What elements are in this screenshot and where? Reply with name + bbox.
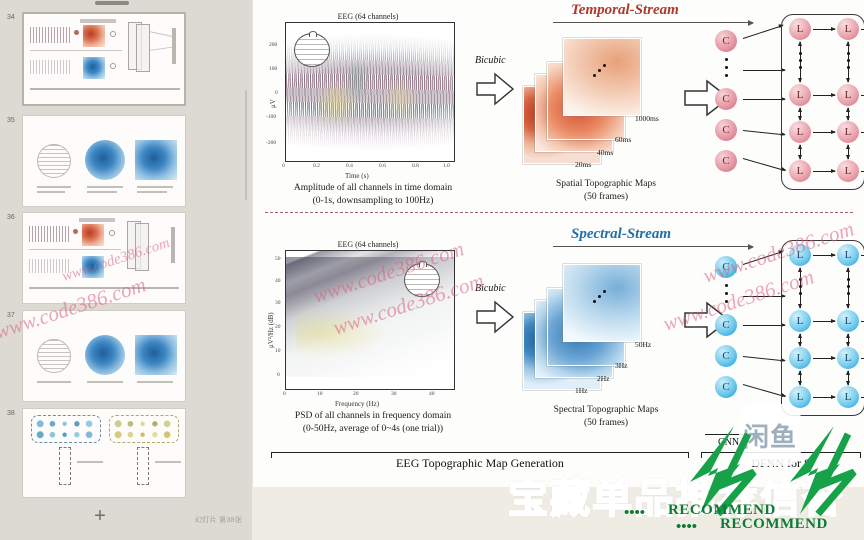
lstm-v-arrow [800,42,801,82]
psd-xtick-0: 0 [283,391,286,397]
spectral-stream-arrow [553,246,753,247]
eeg-ytick-4: -200 [266,140,276,146]
mini-column-b [137,447,149,485]
lstm-node-r3c1: L [789,347,811,369]
mini-warm-map [82,224,104,246]
mini-title-bar [80,19,116,23]
mini-baseline [29,287,179,289]
mini-caption [137,191,167,193]
frame-label-40ms: 40ms [597,148,613,157]
left-section-brace [271,452,689,453]
frame-label-3hz: 3Hz [615,361,628,370]
spectral-stream-title: Spectral-Stream [571,226,671,243]
eeg-caption-line2: (0-1s, downsampling to 100Hz) [259,195,487,208]
mini-caption [37,191,65,193]
lstm-h-arrow [813,29,835,30]
psd-plot [285,250,455,390]
mini-divider [30,50,122,51]
lstm-v-arrow [848,268,849,308]
bicubic-label-spectral: Bicubic [475,283,506,294]
mini-column-a [59,447,71,485]
eeg-xtick-0: 0 [282,163,285,169]
lstm-v-arrow [800,145,801,159]
cnn-to-lstm-arrow [743,25,783,39]
stream-divider [265,212,853,213]
lstm-node-r1c2: L [837,244,859,266]
lstm-v-arrow [800,334,801,346]
spatial-maps-caption-line2: (50 frames) [511,191,701,204]
mini-node-grid-blue [31,415,101,443]
lstm-node-r1c1: L [789,244,811,266]
eeg-plot-title: EEG (64 channels) [273,12,463,21]
bicubic-arrow-spectral [475,300,515,334]
frame-label-60ms: 60ms [615,135,631,144]
recommend-dots: •••• [624,505,645,522]
eeg-xtick-5: 1.0 [443,163,450,169]
mini-caption [87,381,123,383]
cnn-node-2: C [715,314,737,336]
mini-node-icon [110,31,116,37]
lstm-h-arrow [813,132,835,133]
mini-caption [37,381,71,383]
lstm-node-r3c1: L [789,121,811,143]
spatial-maps-caption-line1: Spatial Topographic Maps [511,178,701,191]
mini-cool-disc [85,140,125,180]
spatial-topomap-stack: 20ms 40ms 60ms 1000ms [523,22,693,177]
psd-ytick-2: 30 [275,300,281,306]
eeg-y-axis-label: μV [269,99,277,108]
frame-label-2hz: 2Hz [597,374,610,383]
recommend-label: RECOMMEND [720,516,828,533]
mini-dot-icon [74,30,79,35]
sidebar-footnote: 幻灯片 第38张 [195,515,242,525]
psd-xtick-2: 20 [353,391,359,397]
cnn-to-lstm-arrow [743,251,783,265]
frame-label-50hz: 50Hz [635,340,651,349]
lstm-v-arrow [848,371,849,385]
eeg-xtick-4: 0.8 [412,163,419,169]
lstm-h-arrow [813,358,835,359]
list-item[interactable]: 38 [0,408,248,504]
application-window: 34 35 [0,0,864,540]
mini-caption [137,186,173,188]
mini-caption [155,461,181,463]
mini-caption [137,381,173,383]
lstm-node-r2c1: L [789,84,811,106]
psd-ytick-1: 40 [275,278,281,284]
head-topography-icon [404,263,440,297]
mini-warm-map [83,25,105,47]
cnn-node-3: C [715,119,737,141]
add-slide-button[interactable]: + [88,505,112,529]
thumbnail-number: 37 [7,312,15,319]
mini-node-icon [109,230,115,236]
spectral-maps-caption-line1: Spectral Topographic Maps [511,404,701,417]
mini-head-grid [37,339,71,373]
psd-ytick-3: 20 [275,324,281,330]
eeg-ytick-1: 100 [269,66,277,72]
lstm-h-arrow [813,95,835,96]
thumbnail-number: 35 [7,117,15,124]
list-item[interactable]: 37 [0,310,248,406]
lstm-h-arrow [813,321,835,322]
mini-eeg-wave [30,27,70,43]
thumbnail-slide-38[interactable] [22,408,186,498]
cnn-node-1: C [715,256,737,278]
cnn-node-4: C [715,150,737,172]
mini-cool-map [82,256,104,278]
mini-title-bar [79,218,115,222]
eeg-xtick-1: 0.2 [313,163,320,169]
recommend-dots: •••• [676,519,697,536]
mini-caption [87,186,123,188]
mini-cool-square [135,140,177,180]
mini-eeg-wave [29,226,69,242]
eeg-caption-line1: Amplitude of all channels in time domain [259,182,487,195]
thumbnail-number: 36 [7,214,15,221]
mini-divider [29,249,121,250]
cnn-to-lstm-arrow [743,70,785,71]
eeg-xtick-2: 0.4 [346,163,353,169]
list-item[interactable]: 34 [0,12,248,108]
green-swoosh-icon [778,424,862,516]
cnn-to-lstm-arrow [743,296,785,297]
thumbnail-slide-37[interactable] [22,310,186,402]
mini-caption [77,461,103,463]
psd-xtick-4: 40 [429,391,435,397]
mini-psd-wave [29,259,69,273]
lstm-node-r2c1: L [789,310,811,332]
frame-label-1000ms: 1000ms [635,114,659,123]
psd-ytick-4: 10 [275,348,281,354]
psd-ytick-5: 0 [277,372,280,378]
lstm-h-arrow [813,255,835,256]
psd-ytick-0: 50 [275,256,281,262]
lstm-h-arrow [813,171,835,172]
psd-xtick-1: 10 [317,391,323,397]
cnn-to-lstm-arrow [743,99,785,100]
psd-caption-line1: PSD of all channels in frequency domain [255,410,491,423]
thumbnail-number: 34 [7,14,15,21]
ellipsis-dots [593,290,609,304]
cnn-to-lstm-arrow [743,356,785,361]
cnn-to-lstm-arrow [743,384,786,397]
lstm-node-r4c2: L [837,160,859,182]
spectral-maps-caption-line2: (50 frames) [511,417,701,430]
temporal-stream-title: Temporal-Stream [571,2,679,19]
spectral-topomap-stack: 1Hz 2Hz 3Hz 50Hz [523,248,693,403]
cnn-to-lstm-arrow [743,158,786,171]
bicubic-arrow-temporal [475,72,515,106]
thumbnail-slide-34[interactable] [22,12,186,106]
lstm-node-r2c2: L [837,310,859,332]
mini-psd-wave [30,60,70,74]
lstm-v-arrow [848,108,849,120]
lstm-v-arrow [848,42,849,82]
lstm-v-arrow [848,334,849,346]
thumbnail-slide-35[interactable] [22,115,186,207]
lstm-node-r1c2: L [837,18,859,40]
frame-label-20ms: 20ms [575,160,591,169]
cnn-node-3: C [715,345,737,367]
thumbnail-number: 38 [7,410,15,417]
lstm-node-r3c2: L [837,347,859,369]
sidebar-drag-handle[interactable] [95,1,129,5]
mini-node-grid-olive [109,415,179,443]
mini-cool-square [135,335,177,375]
ellipsis-dots [593,64,609,78]
cnn-node-1: C [715,30,737,52]
eeg-xtick-3: 0.6 [379,163,386,169]
mini-cool-map [83,57,105,79]
cnn-node-2: C [715,88,737,110]
eeg-ytick-3: -100 [266,114,276,120]
mini-head-grid [37,144,71,178]
psd-plot-title: EEG (64 channels) [273,240,463,249]
eeg-x-axis-label: Time (s) [345,172,369,180]
lstm-node-r3c2: L [837,121,859,143]
mini-caption [37,186,71,188]
mini-bar [171,227,175,263]
mini-caption [87,191,117,193]
mini-stack-b [136,24,150,72]
thumbnail-slide-36[interactable] [22,212,186,304]
lstm-v-arrow [848,145,849,159]
psd-yellow-tint [296,309,386,357]
bicubic-label-temporal: Bicubic [475,55,506,66]
frame-label-1hz: 1Hz [575,386,588,395]
psd-xtick-3: 30 [391,391,397,397]
psd-x-axis-label: Frequency (Hz) [335,400,379,408]
lstm-node-r1c1: L [789,18,811,40]
eeg-ytick-0: 200 [269,42,277,48]
mini-dot-icon [73,229,78,234]
lstm-h-arrow [813,397,835,398]
lstm-node-r4c1: L [789,160,811,182]
mini-cool-disc [85,335,125,375]
head-topography-icon [294,33,330,67]
cnn-to-lstm-arrow [743,325,785,326]
eeg-ytick-2: 0 [275,90,278,96]
eeg-time-plot [285,22,455,162]
lstm-v-arrow [800,268,801,308]
slide-thumbnail-sidebar[interactable]: 34 35 [0,0,248,540]
mini-bar [172,28,176,64]
mini-baseline [30,88,180,90]
cnn-node-4: C [715,376,737,398]
list-item[interactable]: 35 [0,115,248,211]
psd-y-axis-label: μV²/Hz (dB) [267,312,275,348]
lstm-node-r2c2: L [837,84,859,106]
mini-node-icon [110,63,116,69]
lstm-node-r4c2: L [837,386,859,408]
psd-caption-line2: (0-50Hz, average of 0~4s (one trial)) [255,423,491,436]
cnn-to-lstm-arrow [743,130,785,135]
mini-stack-b [135,223,149,271]
list-item[interactable]: 36 [0,212,248,308]
lstm-v-arrow [800,371,801,385]
lstm-v-arrow [800,108,801,120]
